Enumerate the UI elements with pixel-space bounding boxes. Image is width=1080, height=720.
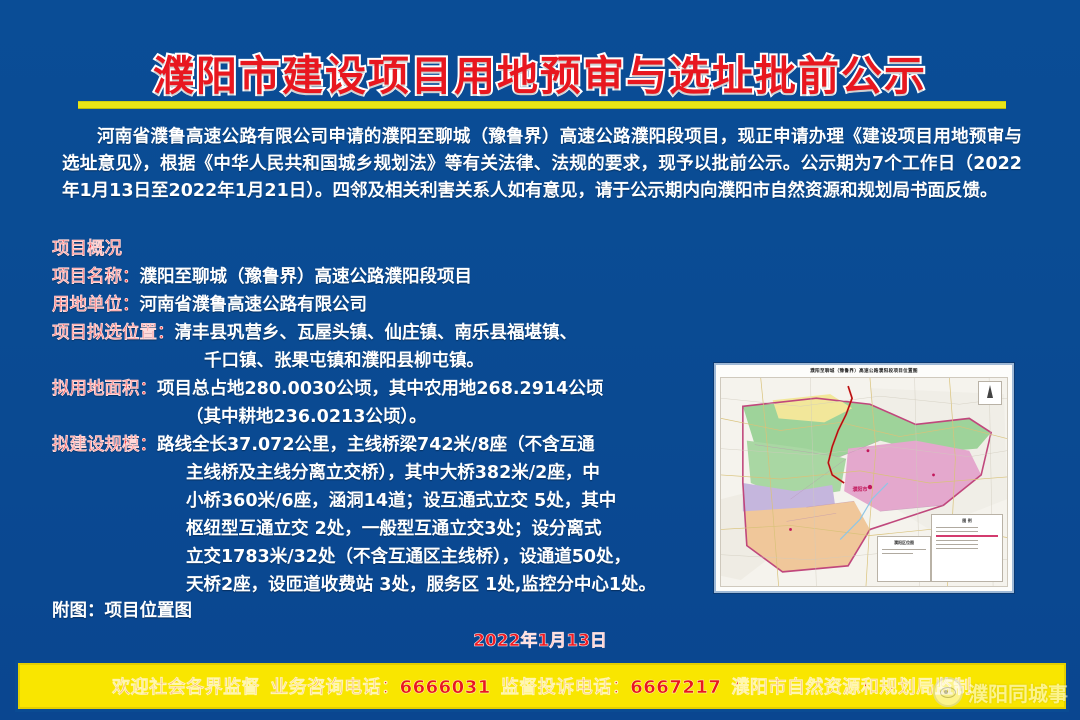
inset-line (882, 553, 913, 554)
field-location-line2: 千口镇、张果屯镇和濮阳县柳屯镇。 (52, 348, 722, 375)
section-heading-row: 项目概况 (52, 236, 722, 263)
area-value-line1: 项目总占地280.0030公顷，其中农用地268.2914公顷 (157, 379, 603, 399)
land-unit-value: 河南省濮鲁高速公路有限公司 (140, 295, 368, 315)
scale-value-line5: 立交1783米/32处（不含互通区主线桥），设通道50处， (186, 547, 631, 567)
scale-label: 拟建设规模： (52, 435, 157, 455)
intro-paragraph: 河南省濮鲁高速公路有限公司申请的濮阳至聊城（豫鲁界）高速公路濮阳段项目，现正申请… (62, 124, 1022, 205)
scale-value-line2: 主线桥及主线分离立交桥），其中大桥382米/2座，中 (186, 463, 600, 483)
field-scale-line3: 小桥360米/6座，涵洞14道；设互通式立交 5处，其中 (52, 488, 722, 515)
legend-route-line (936, 535, 998, 537)
field-scale-line1: 拟建设规模：路线全长37.072公里，主线桥梁742米/8座（不含互通 (52, 432, 722, 459)
poster-title-wrap: 濮阳市建设项目用地预审与选址批前公示 (0, 42, 1080, 102)
field-location-line1: 项目拟选位置：清丰县巩营乡、瓦屋头镇、仙庄镇、南乐县福堪镇、 (52, 320, 722, 347)
inset-line (882, 549, 926, 550)
land-unit-label: 用地单位： (52, 295, 140, 315)
legend-line (936, 527, 978, 528)
page-title: 濮阳市建设项目用地预审与选址批前公示 (153, 42, 927, 102)
legend-line (936, 544, 978, 545)
legend-line (936, 540, 978, 541)
scale-value-line1: 路线全长37.072公里，主线桥梁742米/8座（不含互通 (157, 435, 595, 455)
map-inset-box: 濮阳区位图 (877, 536, 931, 582)
footer-complaint-label: 监督投诉电话： (501, 677, 631, 698)
field-area-line1: 拟用地面积：项目总占地280.0030公顷，其中农用地268.2914公顷 (52, 376, 722, 403)
project-fields: 项目概况 项目名称：濮阳至聊城（豫鲁界）高速公路濮阳段项目 用地单位：河南省濮鲁… (52, 236, 722, 600)
field-scale-line2: 主线桥及主线分离立交桥），其中大桥382米/2座，中 (52, 460, 722, 487)
field-land-unit: 用地单位：河南省濮鲁高速公路有限公司 (52, 292, 722, 319)
field-scale-line4: 枢纽型互通立交 2处，一般型互通立交3处；设分离式 (52, 516, 722, 543)
legend-line (936, 548, 978, 549)
map-legend-box: 图 例 (931, 514, 1003, 582)
scale-value-line6: 天桥2座，设匝道收费站 3处，服务区 1处,监控分中心1处。 (186, 575, 656, 595)
footer-consult-label: 业务咨询电话： (270, 677, 400, 698)
map-inset-title: 濮阳区位图 (878, 540, 930, 546)
section-heading: 项目概况 (52, 239, 122, 259)
location-value-line1: 清丰县巩营乡、瓦屋头镇、仙庄镇、南乐县福堪镇、 (175, 323, 578, 343)
area-label: 拟用地面积： (52, 379, 157, 399)
location-value-line2: 千口镇、张果屯镇和濮阳县柳屯镇。 (204, 351, 484, 371)
project-name-value: 濮阳至聊城（豫鲁界）高速公路濮阳段项目 (140, 267, 473, 287)
location-label: 项目拟选位置： (52, 323, 175, 343)
field-project-name: 项目名称：濮阳至聊城（豫鲁界）高速公路濮阳段项目 (52, 264, 722, 291)
project-location-map: 濮阳至聊城（豫鲁界）高速公路濮阳段项目位置图 (714, 363, 1014, 593)
map-canvas: 濮阳市 濮阳区位图 图 例 (720, 377, 1008, 587)
compass-icon (978, 381, 1002, 405)
scale-value-line3: 小桥360米/6座，涵洞14道；设互通式立交 5处，其中 (186, 491, 616, 511)
field-area-line2: （其中耕地236.0213公顷）。 (52, 404, 722, 431)
map-center-label: 濮阳市 (853, 486, 868, 493)
field-scale-line6: 天桥2座，设匝道收费站 3处，服务区 1处,监控分中心1处。 (52, 572, 722, 599)
scale-value-line4: 枢纽型互通立交 2处，一般型互通立交3处；设分离式 (186, 519, 601, 539)
project-name-label: 项目名称： (52, 267, 140, 287)
footer-banner: 欢迎社会各界监督业务咨询电话：6666031监督投诉电话：6667217濮阳市自… (18, 663, 1066, 709)
footer-complaint-phone: 6667217 (630, 677, 721, 698)
area-value-line2: （其中耕地236.0213公顷）。 (186, 407, 427, 427)
footer-text: 欢迎社会各界监督业务咨询电话：6666031监督投诉电话：6667217濮阳市自… (112, 673, 972, 699)
legend-line (936, 531, 978, 532)
map-title: 濮阳至聊城（豫鲁界）高速公路濮阳段项目位置图 (716, 368, 1012, 374)
publish-date: 2022年1月13日 (0, 626, 1080, 651)
public-notice-poster: 濮阳市建设项目用地预审与选址批前公示 河南省濮鲁高速公路有限公司申请的濮阳至聊城… (0, 0, 1080, 720)
footer-issuer: 濮阳市自然资源和规划局监制 (731, 677, 972, 698)
footer-consult-phone: 6666031 (400, 677, 491, 698)
title-underline-rule (78, 101, 1006, 109)
field-scale-line5: 立交1783米/32处（不含互通区主线桥），设通道50处， (52, 544, 722, 571)
footer-welcome: 欢迎社会各界监督 (112, 677, 260, 698)
map-legend-title: 图 例 (932, 518, 1002, 524)
attachment-note: 附图：项目位置图 (52, 597, 192, 622)
